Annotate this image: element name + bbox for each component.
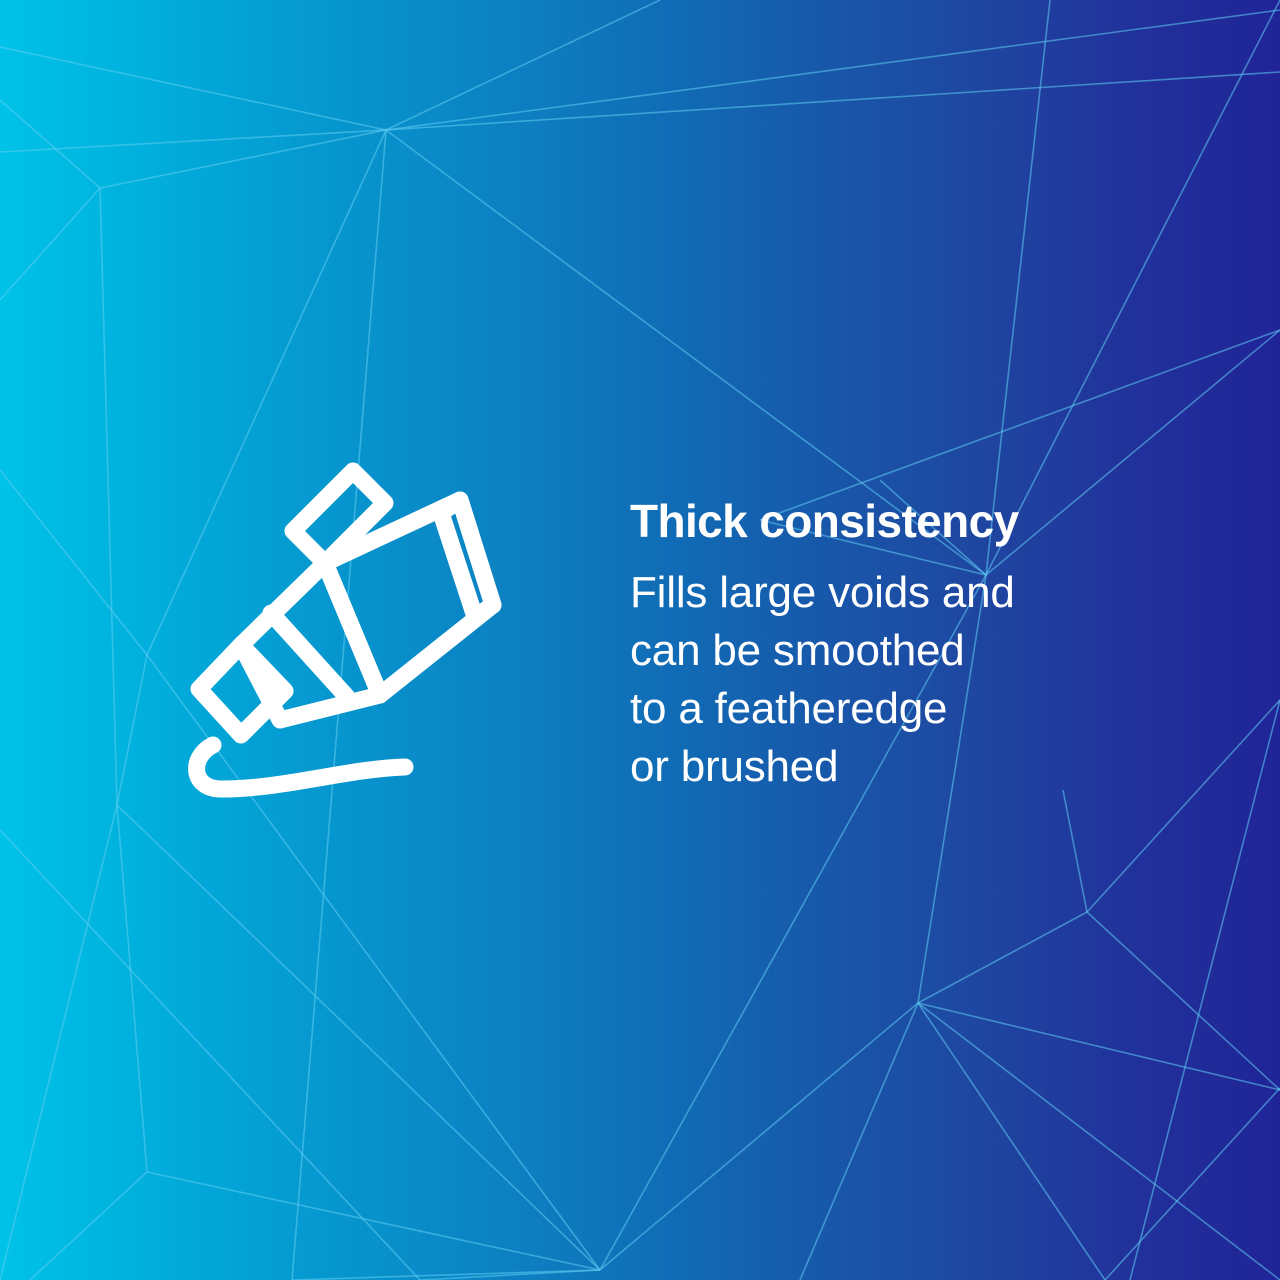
body-line: or brushed — [630, 738, 1150, 796]
sealant-bead — [197, 745, 405, 789]
body-text: Fills large voids and can be smoothed to… — [630, 564, 1150, 796]
text-block: Thick consistency Fills large voids and … — [630, 492, 1150, 796]
heading: Thick consistency — [630, 492, 1150, 550]
tube-shoulder — [241, 563, 380, 720]
body-line: to a featheredge — [630, 680, 1150, 738]
promo-graphic: Thick consistency Fills large voids and … — [0, 0, 1280, 1280]
sealant-tube-glyph — [175, 445, 515, 800]
body-line: Fills large voids and — [630, 564, 1150, 622]
body-line: can be smoothed — [630, 622, 1150, 680]
sealant-tube-icon — [175, 445, 515, 800]
tube-base-band — [441, 500, 493, 617]
